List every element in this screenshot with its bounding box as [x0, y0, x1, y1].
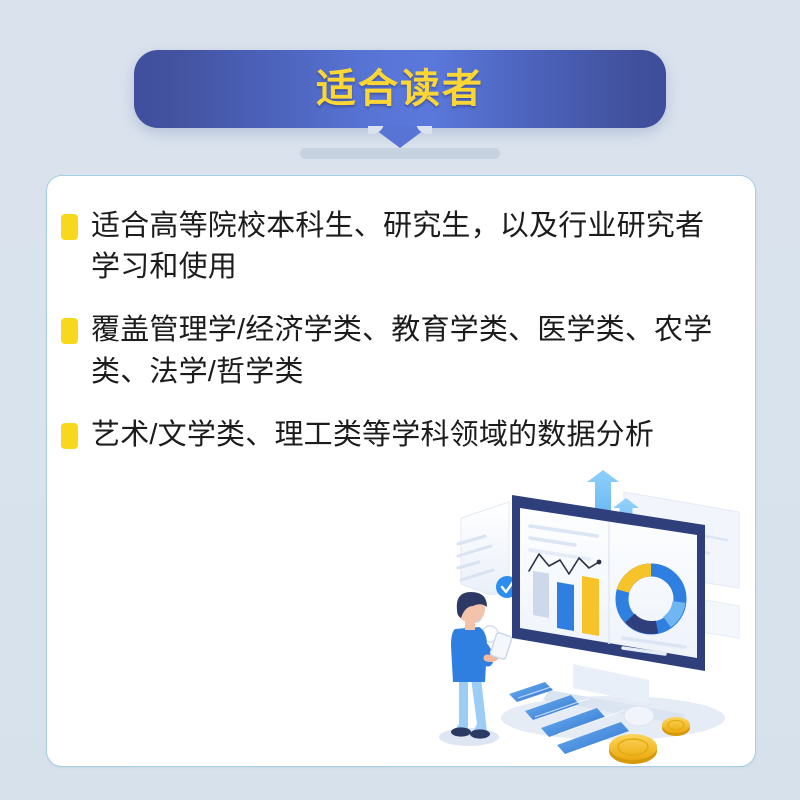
bullet-marker-icon: [61, 318, 78, 344]
computer-mouse: [624, 706, 654, 726]
bullet-text: 艺术/文学类、理工类等学科领域的数据分析: [91, 415, 727, 456]
data-analysis-illustration: [417, 466, 756, 766]
list-item: 适合高等院校本科生、研究生，以及行业研究者学习和使用: [47, 206, 755, 288]
bullet-marker-icon: [61, 423, 78, 449]
list-item: 艺术/文学类、理工类等学科领域的数据分析: [47, 415, 755, 456]
person-with-phone: [439, 592, 512, 746]
list-item: 覆盖管理学/经济学类、教育学类、医学类、农学类、法学/哲学类: [47, 310, 755, 392]
bullet-text: 适合高等院校本科生、研究生，以及行业研究者学习和使用: [91, 206, 727, 288]
header-banner: 适合读者: [134, 50, 666, 128]
banner-pointer-icon: [368, 126, 432, 150]
banner-underline-bar: [300, 148, 500, 159]
bullet-list: 适合高等院校本科生、研究生，以及行业研究者学习和使用 覆盖管理学/经济学类、教育…: [47, 206, 755, 478]
content-card: 适合高等院校本科生、研究生，以及行业研究者学习和使用 覆盖管理学/经济学类、教育…: [46, 175, 756, 767]
page-title: 适合读者: [134, 50, 666, 128]
bullet-text: 覆盖管理学/经济学类、教育学类、医学类、农学类、法学/哲学类: [91, 310, 727, 392]
bullet-marker-icon: [61, 214, 78, 240]
page-root: 适合读者 适合高等院校本科生、研究生，以及行业研究者学习和使用 覆盖管理学/经济…: [0, 0, 800, 800]
